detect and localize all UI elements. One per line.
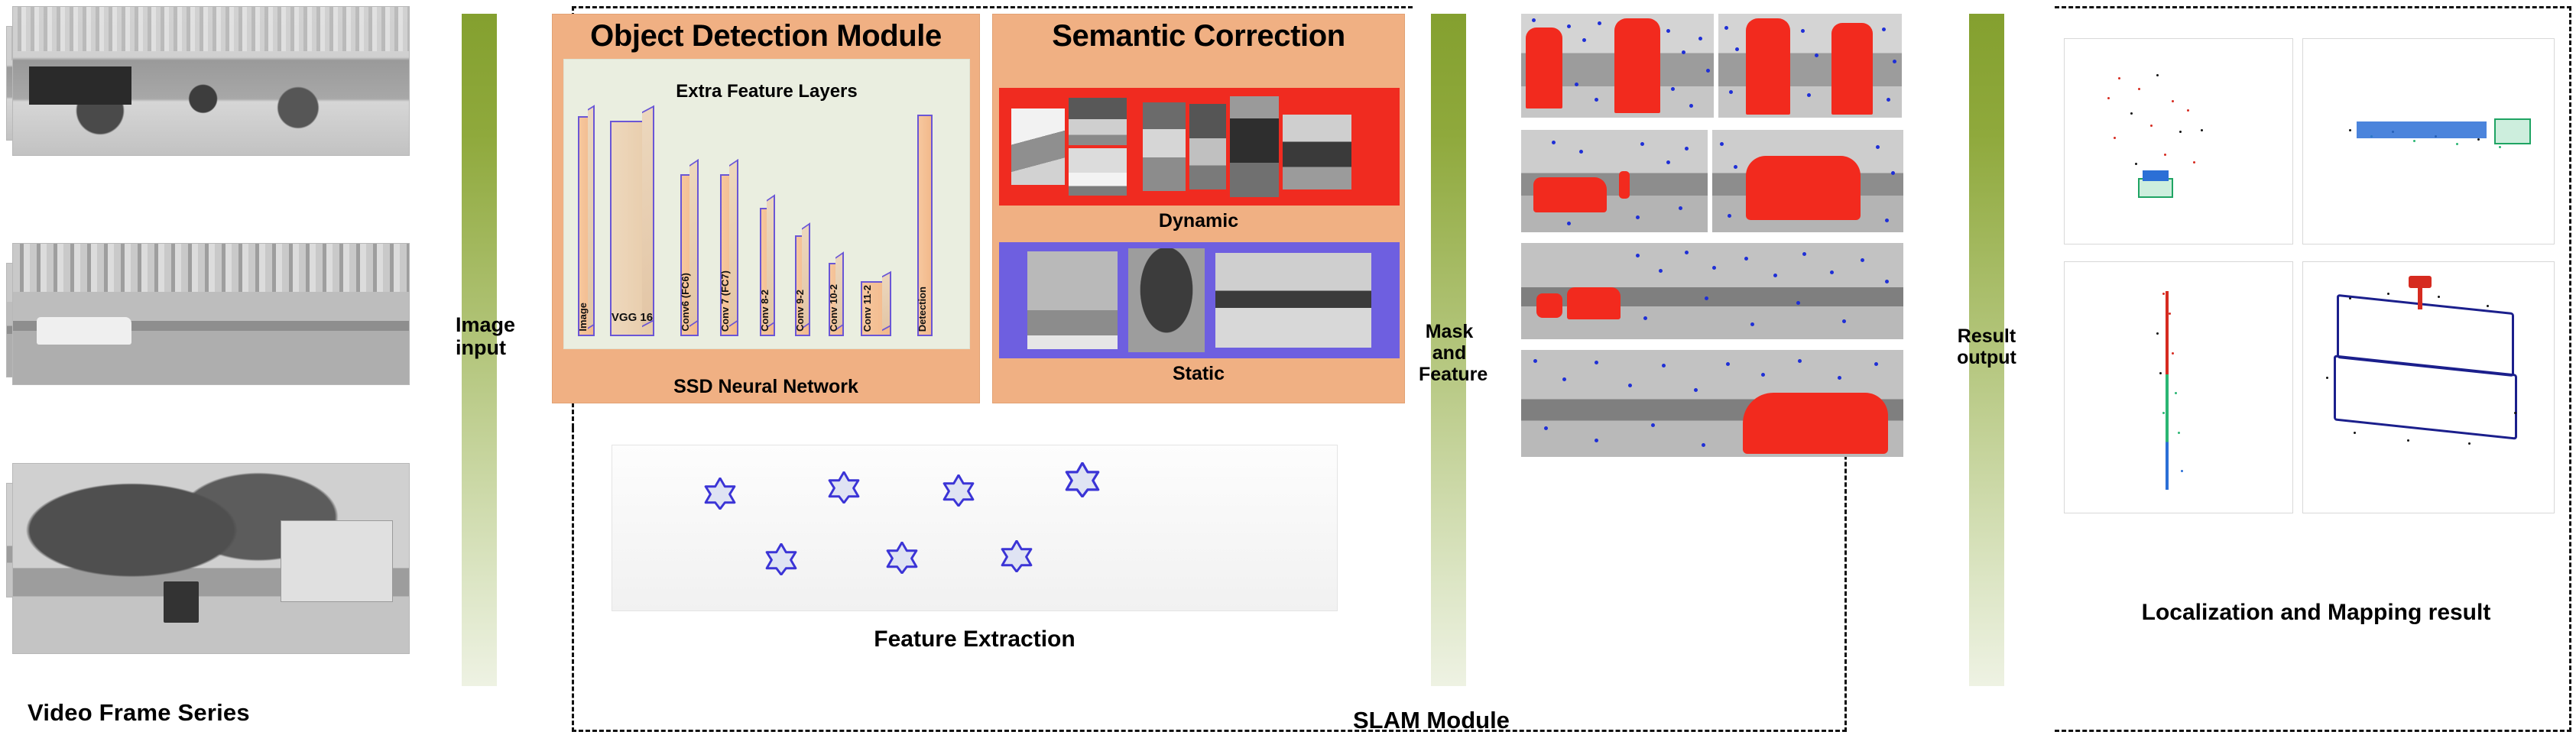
frame-sheet-main [12, 6, 410, 156]
feature-star-icon [942, 474, 975, 507]
feature-star-icon [765, 543, 797, 575]
extra-feature-layers-label: Extra Feature Layers [564, 81, 969, 102]
network-layer-label: Conv 7 (FC7) [720, 270, 738, 332]
network-layer-conv10: Conv 10-2 [829, 263, 844, 336]
dynamic-objects-panel [999, 88, 1400, 206]
map-cell-trajectory [2302, 261, 2555, 513]
slam-frame-indoor-right [1718, 14, 1902, 118]
slam-module-caption: SLAM Module [1353, 707, 1510, 734]
dynamic-thumbnail-pedestrian-2 [1189, 104, 1226, 189]
object-detection-module: Object Detection Module Extra Feature La… [552, 14, 980, 403]
localization-mapping-caption: Localization and Mapping result [2064, 600, 2568, 626]
dynamic-thumbnail-car [1069, 98, 1127, 145]
feature-star-icon [828, 471, 860, 504]
video-frame-series-caption: Video Frame Series [28, 699, 250, 727]
network-layer-label: Conv 10-2 [829, 284, 844, 332]
slam-frame-road-right [1712, 130, 1903, 232]
network-layer-vgg16: VGG 16 [610, 121, 654, 336]
feature-star-icon [704, 478, 736, 510]
ssd-neural-network-label: SSD Neural Network [553, 376, 979, 398]
dynamic-thumbnail-van [1069, 148, 1127, 196]
network-layer-image: Image [578, 116, 595, 336]
image-input-label-line1: Image [456, 313, 503, 336]
map-cell-sparse-top-left [2064, 38, 2293, 244]
network-layer-label: Detection [917, 287, 933, 332]
network-layer-conv8: Conv 8-2 [760, 208, 775, 336]
mask-and-feature-label-line2: and [1419, 342, 1480, 364]
static-thumbnail-desk [1215, 253, 1371, 348]
network-layer-label: Image [578, 303, 595, 332]
slam-frame-street-car [1521, 350, 1903, 457]
static-objects-panel [999, 242, 1400, 358]
slam-result-images [1521, 14, 1942, 701]
frame-sheet-main [12, 243, 410, 385]
network-layer-label: VGG 16 [610, 312, 654, 324]
result-output-label-line2: output [1957, 347, 2016, 368]
ssd-network-canvas: Extra Feature Layers Image VGG 16 Conv6 … [563, 59, 970, 349]
object-detection-module-title: Object Detection Module [553, 15, 979, 53]
network-layer-label: Conv 11-2 [862, 285, 890, 332]
dynamic-thumbnail-pedestrian-3 [1230, 96, 1279, 197]
dynamic-label: Dynamic [993, 210, 1404, 232]
feature-extraction-box [612, 445, 1338, 611]
frame-sheet-main [12, 463, 410, 654]
dynamic-thumbnail-truck [1011, 108, 1065, 185]
dynamic-thumbnail-group-vehicles [1069, 98, 1127, 196]
map-cell-sparse-top-right [2302, 38, 2555, 244]
slam-frame-indoor-left [1521, 14, 1714, 118]
feature-extraction-label: Feature Extraction [612, 627, 1338, 652]
mask-and-feature-label-line1: Mask [1419, 321, 1480, 342]
static-thumbnail-building [1027, 251, 1118, 349]
semantic-correction-module: Semantic Correction Dynamic Static [992, 14, 1405, 403]
dynamic-thumbnail-cyclist [1283, 115, 1351, 189]
feature-star-icon [886, 542, 918, 574]
mask-and-feature-label: Mask and Feature [1419, 321, 1480, 385]
network-layer-label: Conv 9-2 [795, 290, 810, 332]
image-input-label-line2: input [456, 336, 503, 359]
slam-frame-street [1521, 243, 1903, 339]
result-output-label-line1: Result [1957, 325, 2016, 347]
dynamic-thumbnail-pedestrian-1 [1143, 102, 1186, 191]
mask-and-feature-label-line3: Feature [1419, 364, 1480, 385]
network-layer-conv7: Conv 7 (FC7) [720, 174, 738, 336]
feature-star-icon [1065, 462, 1097, 494]
feature-star-icon [1001, 540, 1033, 572]
static-thumbnail-tree [1128, 248, 1205, 352]
video-frame-series-panel: Video Frame Series [0, 0, 428, 748]
map-cell-sparse-bottom-left [2064, 261, 2293, 513]
static-label: Static [993, 363, 1404, 385]
network-layer-conv6: Conv6 (FC6) [680, 174, 699, 336]
slam-frame-road-left [1521, 130, 1708, 232]
network-layer-conv11: Conv 11-2 [861, 281, 891, 336]
network-layer-conv9: Conv 9-2 [795, 235, 810, 336]
network-layer-label: Conv 8-2 [760, 290, 775, 332]
semantic-correction-title: Semantic Correction [993, 15, 1404, 53]
network-layer-detection: Detection [917, 115, 933, 336]
network-layer-label: Conv6 (FC6) [680, 273, 699, 332]
image-input-label: Image input [456, 313, 503, 359]
result-output-label: Result output [1957, 325, 2016, 368]
